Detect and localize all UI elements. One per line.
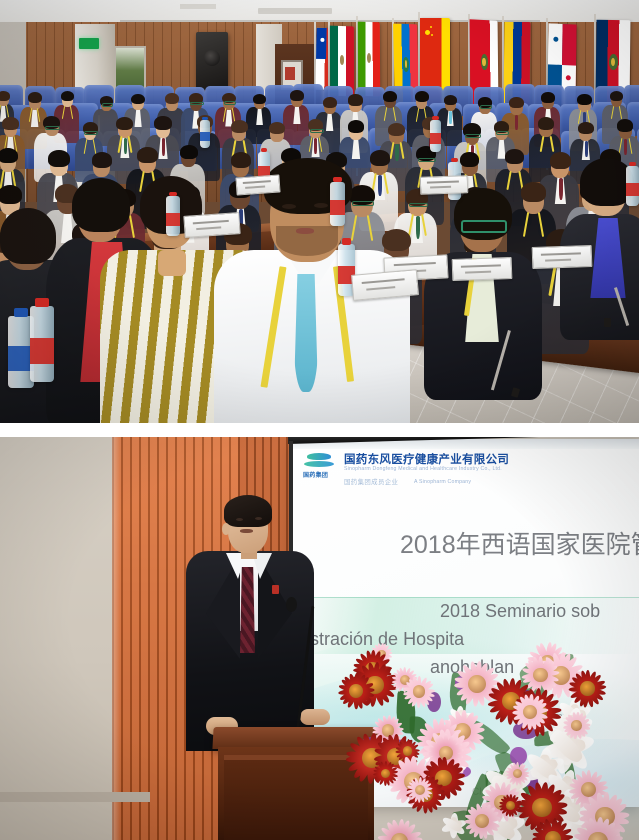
speaker-hand-right — [300, 709, 330, 725]
floral-gerbera — [499, 794, 522, 817]
screen-tagline-cn: 国药集团成员企业 — [344, 477, 398, 486]
water-bottle-label — [30, 338, 54, 364]
delegate-name-card — [235, 174, 280, 195]
logo-swoosh-mid-icon — [304, 461, 334, 467]
speaker-lapel-pin — [272, 585, 279, 594]
floral-center — [571, 720, 582, 731]
photo-separator — [0, 423, 639, 437]
name-card-text-line — [541, 252, 580, 255]
floral-center — [403, 746, 412, 755]
water-bottle-label — [200, 132, 210, 142]
microphone-head-icon — [286, 597, 297, 612]
floral-gerbera — [377, 819, 423, 840]
speaker-eye-left — [236, 518, 243, 521]
floral-center — [580, 681, 595, 696]
speaker-hair — [224, 495, 272, 527]
floral-gerbera — [563, 712, 591, 740]
water-bottle-label — [330, 200, 345, 215]
water-bottle-cap — [333, 177, 341, 182]
speaker-eye-right — [255, 517, 262, 520]
screen-company-name-cn: 国药东风医疗健康产业有限公司 — [344, 451, 509, 467]
name-card-text-line — [393, 262, 435, 266]
water-bottle-cap — [14, 308, 29, 317]
floral-center — [588, 832, 607, 840]
floral-gerbera — [403, 675, 436, 708]
name-card-text-line — [430, 186, 451, 189]
floral-center — [413, 685, 425, 697]
photo-podium-speaker: 国药集团 国药东风医疗健康产业有限公司 Sinopharm Dongfeng M… — [0, 437, 639, 840]
floral-gerbera — [512, 694, 549, 731]
water-bottle-cap — [35, 298, 48, 307]
floral-gerbera — [464, 803, 501, 840]
water-bottle-cap — [432, 116, 438, 120]
baseboard — [0, 792, 150, 802]
name-card-text-line — [427, 181, 458, 184]
water-bottle-cap — [342, 238, 352, 244]
photo-conference-audience — [0, 0, 639, 423]
floral-center — [415, 785, 425, 795]
delegate-name-card — [183, 212, 240, 238]
name-card-text-line — [192, 219, 229, 224]
water-bottle-cap — [629, 162, 636, 167]
water-bottle-cap — [202, 117, 208, 120]
floral-gerbera — [573, 817, 624, 840]
floral-gerbera — [407, 777, 433, 803]
floral-gerbera — [373, 761, 398, 786]
name-card-text-line — [362, 278, 406, 284]
sinopharm-logo: 国药集团 — [303, 453, 337, 485]
name-card-text-line — [545, 258, 572, 261]
screen-company-name-en: Sinopharm Dongfeng Medical and Healthcar… — [344, 466, 502, 472]
name-card-text-line — [246, 186, 265, 189]
speaker-necktie — [240, 567, 255, 653]
logo-wordmark: 国药集团 — [303, 470, 328, 479]
water-bottle-cap — [169, 192, 177, 197]
floral-center — [468, 675, 486, 693]
delegate-name-card — [351, 269, 419, 301]
water-bottle-cap — [451, 158, 458, 163]
floral-gerbera — [337, 672, 374, 709]
floral-center — [523, 705, 537, 719]
name-card-text-line — [465, 270, 492, 273]
delegate-name-card — [452, 257, 513, 281]
floral-gerbera — [532, 818, 574, 840]
name-card-text-line — [196, 226, 221, 230]
floral-arrangement — [330, 617, 639, 840]
floral-center — [349, 684, 363, 698]
water-bottle-label — [430, 133, 441, 144]
logo-swoosh-top-icon — [307, 453, 331, 460]
chair-foot — [604, 318, 611, 327]
floral-center — [533, 668, 548, 683]
name-card-text-line — [243, 181, 272, 185]
speaker-ear — [222, 523, 230, 535]
desk-props — [0, 0, 639, 423]
name-card-text-line — [461, 264, 500, 267]
delegate-name-card — [532, 245, 593, 269]
slat-wall-edge-highlight — [112, 437, 120, 840]
water-bottle-label — [626, 183, 639, 197]
floral-gerbera — [568, 669, 606, 707]
water-bottle-label — [166, 213, 180, 227]
speaker-mouth — [240, 529, 253, 533]
screen-headline-cn: 2018年西语国家医院管理 — [400, 525, 639, 561]
photo-pair-page: 国药集团 国药东风医疗健康产业有限公司 Sinopharm Dongfeng M… — [0, 0, 639, 840]
name-card-text-line — [366, 286, 395, 291]
screen-tagline-en: A Sinopharm Company — [414, 479, 471, 485]
floral-center — [532, 798, 552, 818]
delegate-name-card — [420, 175, 469, 195]
